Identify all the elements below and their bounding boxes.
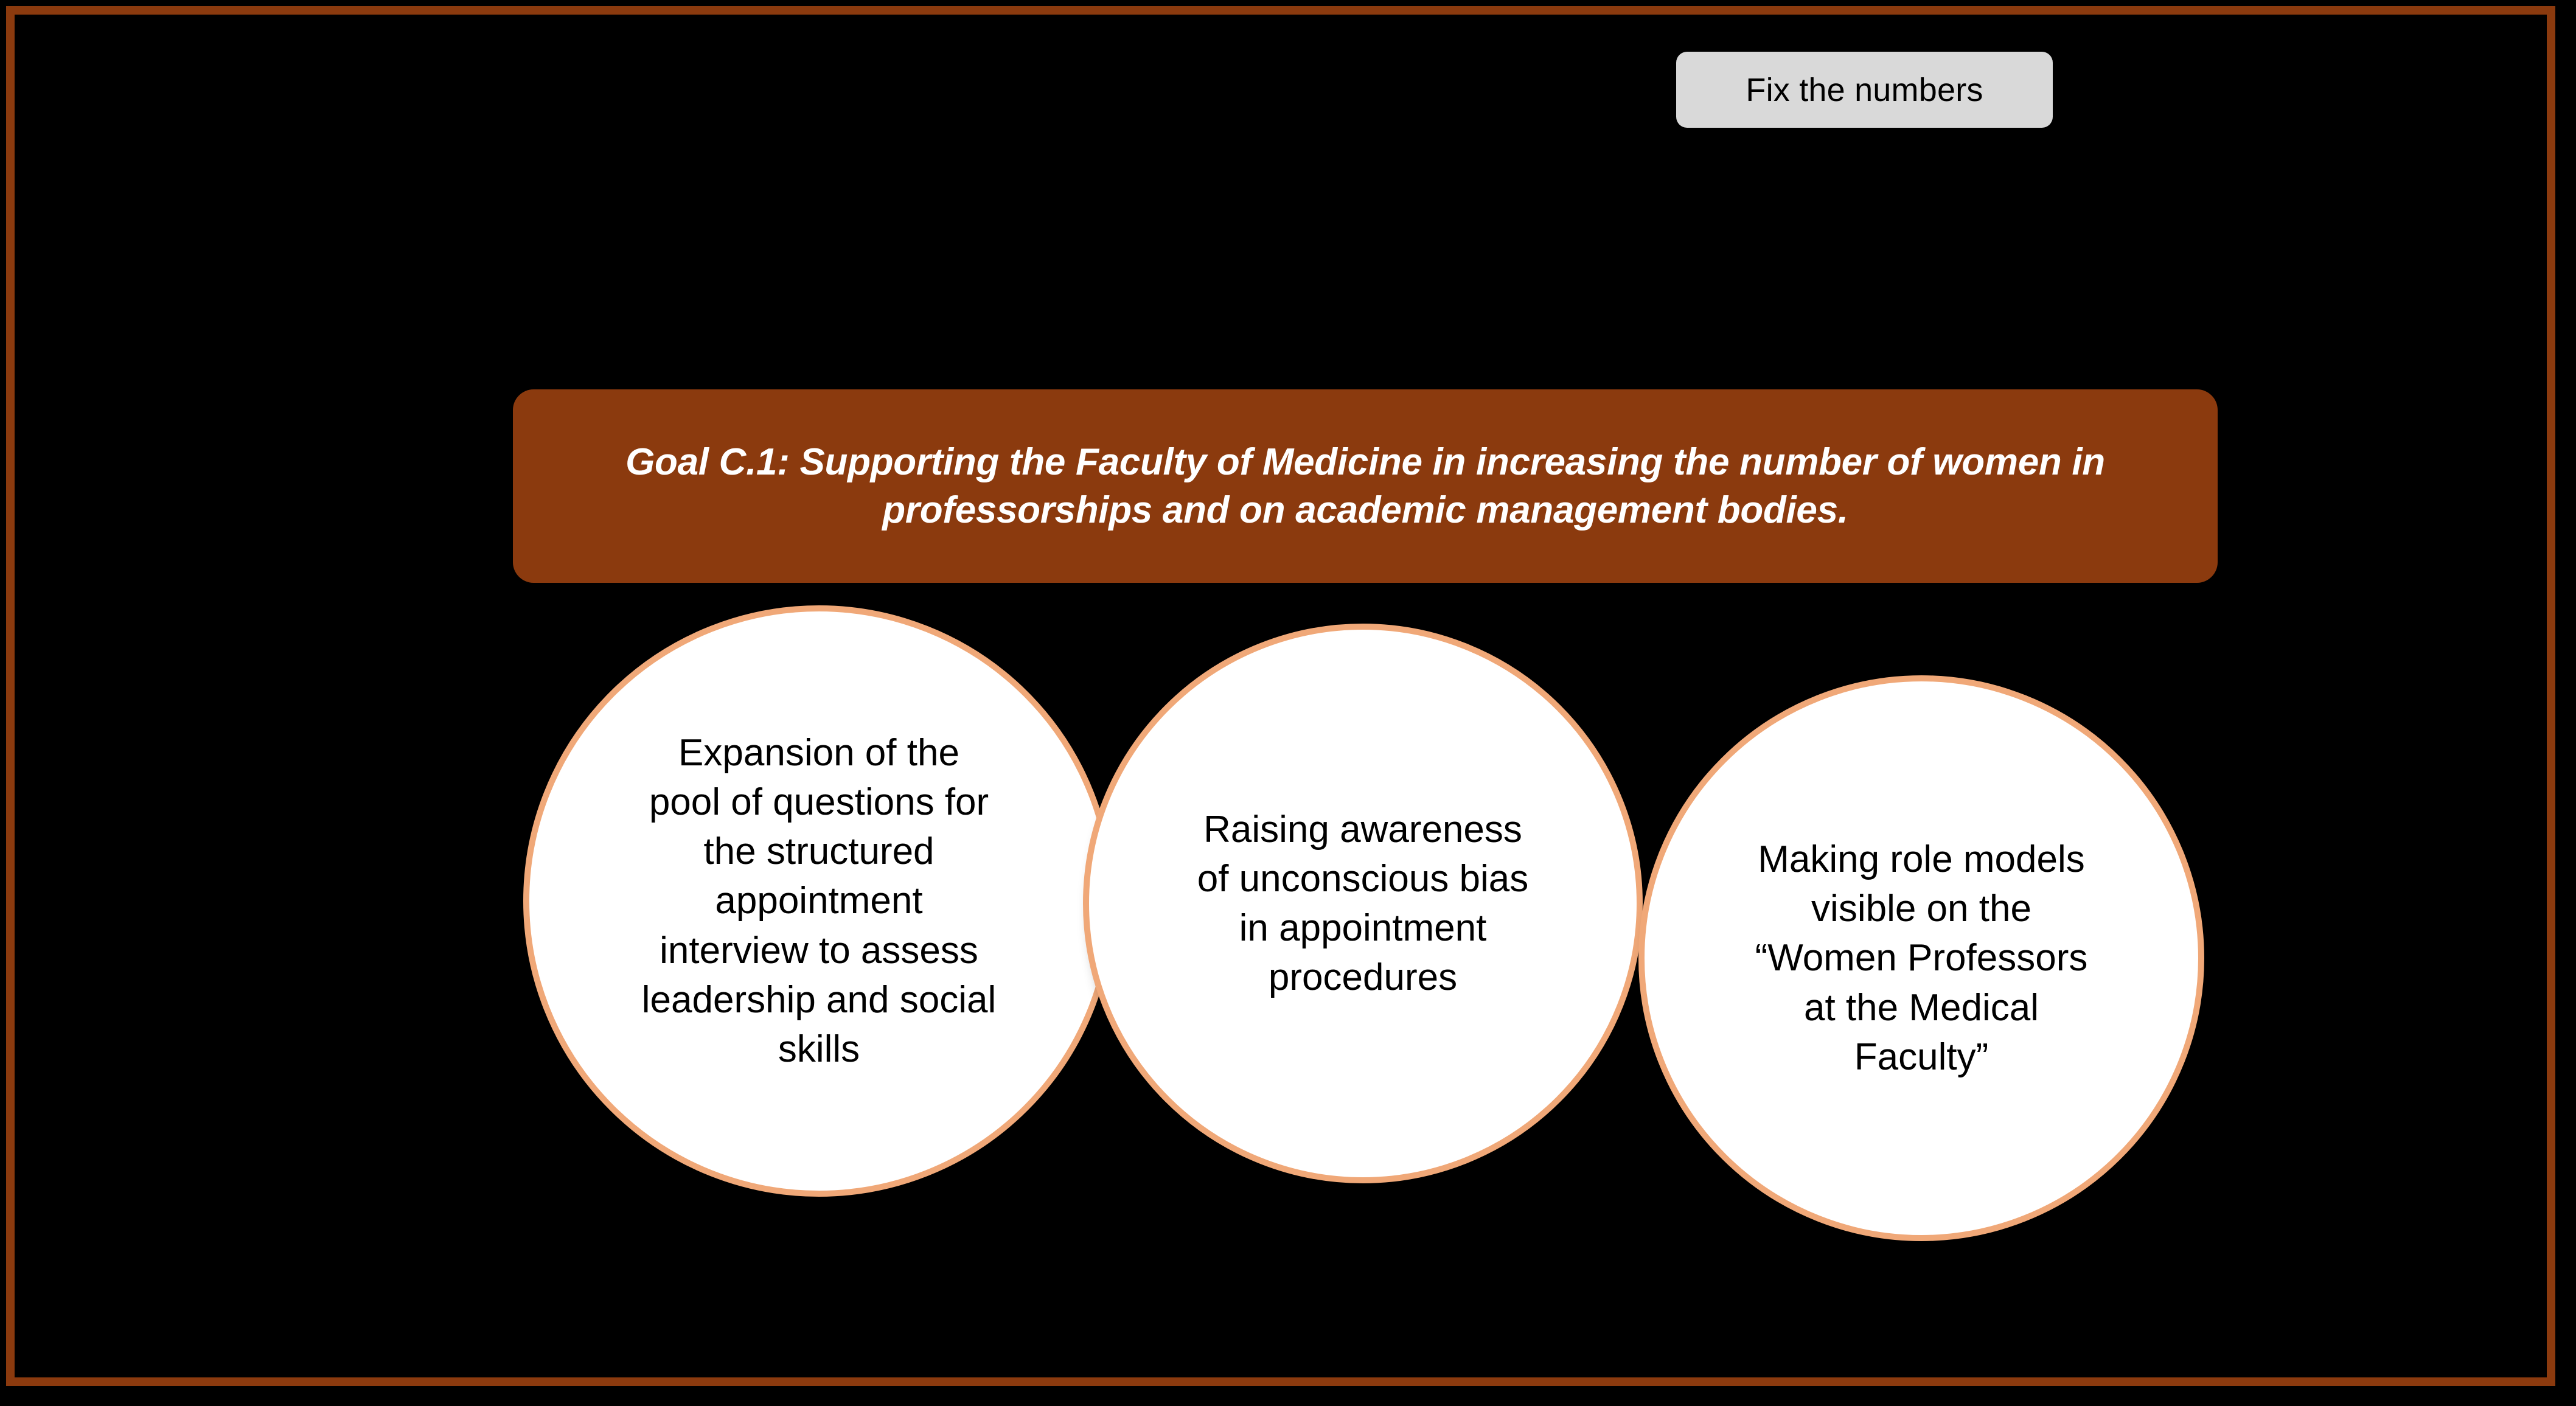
measure-circle-2-text: Raising awareness of unconscious bias in… <box>1156 805 1570 1003</box>
slide-canvas: Fix the numbers Goal C.1: Supporting the… <box>0 0 2576 1406</box>
measure-circle-3[interactable]: Making role models visible on the “Women… <box>1638 675 2204 1241</box>
goal-banner-text: Goal C.1: Supporting the Faculty of Medi… <box>555 438 2175 535</box>
measure-circle-1[interactable]: Expansion of the pool of questions for t… <box>523 605 1115 1197</box>
fix-the-numbers-badge[interactable]: Fix the numbers <box>1676 52 2053 128</box>
fix-the-numbers-badge-label: Fix the numbers <box>1746 74 1983 106</box>
goal-banner: Goal C.1: Supporting the Faculty of Medi… <box>513 389 2218 583</box>
measure-circle-1-text: Expansion of the pool of questions for t… <box>600 728 1038 1074</box>
measure-circle-2[interactable]: Raising awareness of unconscious bias in… <box>1083 624 1643 1183</box>
measure-circle-3-text: Making role models visible on the “Women… <box>1714 835 2128 1082</box>
